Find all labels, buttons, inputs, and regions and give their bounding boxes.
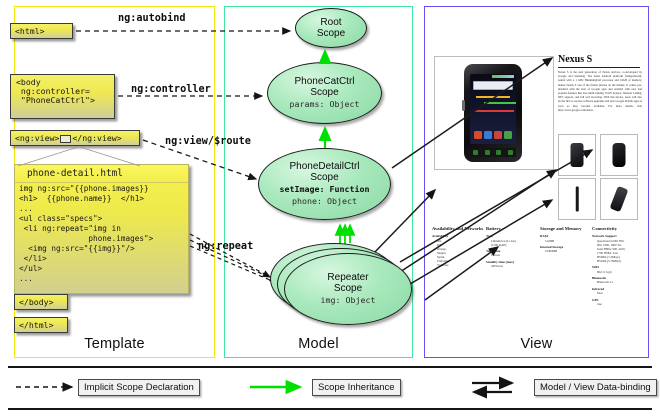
legend-label: Scope Inheritance — [312, 379, 401, 396]
phone-device-image — [464, 64, 522, 162]
note-title: phone-detail.html — [27, 168, 123, 179]
legend-item-implicit-scope: Implicit Scope Declaration — [14, 378, 200, 396]
view-page-description: Nexus S is the next generation of Nexus … — [558, 70, 642, 128]
sticky-note-phone-detail: phone-detail.html img ng:src="{{phone.im… — [14, 164, 189, 294]
hw-button-2 — [485, 150, 490, 155]
edge-label-ng-autobind: ng:autobind — [118, 13, 185, 24]
spec-value: 428 hours — [486, 264, 538, 268]
spec-header: Connectivity — [592, 226, 642, 232]
scope-prop-setimage: setImage: Function — [280, 185, 370, 195]
spec-value: true — [592, 302, 642, 306]
scope-title: Root Scope — [317, 17, 345, 39]
scope-title: PhoneDetailCtrl Scope — [289, 161, 359, 183]
phone-thumbnail-4[interactable] — [600, 178, 638, 220]
phone-angle-thumb-icon — [610, 186, 629, 212]
scope-title: Repeater Scope — [327, 272, 368, 294]
phone-app-dock — [473, 128, 513, 141]
phone-front-thumb-icon — [571, 143, 584, 167]
note-code: img ng:src="{{phone.images}} <h1> {{phon… — [19, 184, 185, 284]
code-box-ngview: <ng:view></ng:view> — [10, 130, 140, 146]
legend-icon-green-arrow — [248, 378, 306, 396]
scope-repeater: Repeater Scope img: Object — [284, 253, 412, 325]
spec-column-battery: Battery Type Lithium Ion (Li-Ion) (1500 … — [486, 226, 538, 268]
spec-value: 16384MB — [540, 249, 592, 253]
code-box-html-close: </html> — [14, 317, 68, 333]
phone-thumbnail-1[interactable] — [558, 134, 596, 176]
app-icon-3 — [494, 131, 502, 139]
hw-button-4 — [508, 150, 513, 155]
phone-side-button-icon — [462, 100, 465, 111]
spec-value: (1500 mAH) — [486, 243, 538, 247]
legend-icon-dashed-arrow — [14, 378, 72, 396]
app-icon-4 — [504, 131, 512, 139]
legend-item-data-binding: Model / View Data-binding — [470, 378, 657, 396]
phone-statusbar-icon — [492, 75, 514, 78]
panel-label-view: View — [424, 336, 649, 352]
phone-back-thumb-icon — [613, 143, 626, 167]
spec-value: Bluetooth 2.1 — [592, 280, 642, 284]
spec-column-storage: Storage and Memory RAM 512MB Internal St… — [540, 226, 592, 253]
phone-thumbnail-3[interactable] — [558, 178, 596, 220]
edge-label-ng-view-route: ng:view/$route — [165, 136, 251, 147]
panel-label-model: Model — [224, 336, 413, 352]
phone-hardware-buttons — [470, 148, 516, 157]
phone-wallpaper-stripe-2 — [484, 102, 516, 104]
spec-column-availability: Availability and Networks Availability M… — [432, 226, 484, 267]
scope-phonecatctrl: PhoneCatCtrl Scope params: Object — [267, 62, 382, 124]
panel-label-template: Template — [14, 336, 215, 352]
spec-header: Battery — [486, 226, 538, 232]
ngview-close-tag: </ng:view> — [72, 133, 121, 143]
scope-prop-img: img: Object — [321, 296, 376, 306]
spec-value: 6 hours — [486, 253, 538, 257]
phone-wallpaper-stripe-3 — [474, 110, 514, 112]
spec-column-connectivity: Connectivity Network Support Quad-band G… — [592, 226, 642, 306]
view-rendered-page: Nexus S Nexus S is the next generation o… — [432, 14, 642, 326]
hw-button-1 — [473, 150, 478, 155]
view-page-title: Nexus S — [558, 54, 592, 65]
scope-root: Root Scope — [295, 8, 367, 48]
app-icon-1 — [474, 131, 482, 139]
phone-search-widget — [473, 81, 513, 90]
app-icon-2 — [484, 131, 492, 139]
diagram-canvas: <html> <body ng:controller= "PhoneCatCtr… — [0, 0, 660, 420]
title-divider — [558, 67, 640, 68]
spec-value: 802.11 b/g/n — [592, 270, 642, 274]
scope-phonedetailctrl: PhoneDetailCtrl Scope setImage: Function… — [258, 148, 391, 220]
scope-title: PhoneCatCtrl Scope — [294, 76, 354, 98]
edge-label-ng-controller: ng:controller — [131, 84, 211, 95]
spec-header: Availability and Networks — [432, 226, 484, 232]
code-box-body-close: </body> — [14, 294, 68, 310]
phone-screen — [470, 74, 516, 144]
spec-value: false — [592, 291, 642, 295]
legend-label: Model / View Data-binding — [534, 379, 657, 396]
legend-item-scope-inheritance: Scope Inheritance — [248, 378, 401, 396]
ngview-slot-icon — [60, 135, 71, 143]
spec-value: 512MB — [540, 239, 592, 243]
legend-icon-double-arrow — [470, 378, 528, 396]
scope-prop-params: params: Object — [290, 100, 360, 110]
scope-prop-phone: phone: Object — [292, 197, 357, 207]
spec-value: Vodafone — [432, 263, 484, 267]
phone-hero-image-frame — [434, 56, 554, 170]
spec-header: Storage and Memory — [540, 226, 592, 232]
hw-button-3 — [496, 150, 501, 155]
edge-label-ng-repeat: ng:repeat — [198, 241, 253, 252]
phone-side-thumb-icon — [576, 187, 579, 212]
code-box-body-open: <body ng:controller= "PhoneCatCtrl"> — [10, 74, 115, 119]
legend-divider-top — [8, 366, 652, 368]
phone-thumbnail-2[interactable] — [600, 134, 638, 176]
code-box-html-open: <html> — [10, 23, 73, 39]
ngview-open-tag: <ng:view> — [15, 133, 59, 143]
phone-wallpaper-stripe-1 — [476, 96, 510, 98]
legend-divider-bottom — [8, 408, 652, 410]
spec-value: HSUPA (5.76Mbps) — [592, 259, 642, 263]
legend-label: Implicit Scope Declaration — [78, 379, 200, 396]
